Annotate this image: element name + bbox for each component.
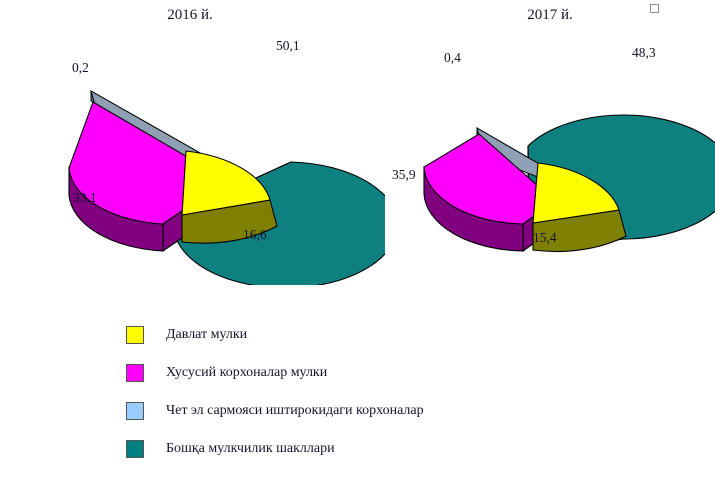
legend-item-davlat[interactable]: Давлат мулки	[126, 316, 596, 354]
legend-swatch-davlat-icon	[126, 326, 144, 344]
legend-swatch-chet-el-icon	[126, 402, 144, 420]
legend-label-davlat: Давлат мулки	[166, 327, 247, 343]
legend-item-boshqa[interactable]: Бошқа мулкчилик шакллари	[126, 430, 596, 468]
legend-swatch-xususiy-icon	[126, 364, 144, 382]
pie-title-2017: 2017 й.	[470, 7, 630, 24]
data-label-2016-xususiy: 33,1	[73, 190, 97, 206]
legend-swatch-boshqa-icon	[126, 440, 144, 458]
legend-label-boshqa: Бошқа мулкчилик шакллари	[166, 441, 335, 457]
legend-label-chet-el: Чет эл сармояси иштирокидаги корхоналар	[166, 403, 424, 419]
pie-chart-2016	[55, 55, 385, 285]
data-label-2017-boshqa: 48,3	[632, 45, 656, 61]
pie-title-2016: 2016 й.	[110, 7, 270, 24]
data-label-2017-xususiy: 35,9	[392, 167, 416, 183]
legend-item-chet-el[interactable]: Чет эл сармояси иштирокидаги корхоналар	[126, 392, 596, 430]
legend-label-xususiy: Хусусий корхоналар мулки	[166, 365, 327, 381]
data-label-2017-davlat: 15,4	[533, 230, 557, 246]
data-label-2017-chet-el: 0,4	[444, 50, 461, 66]
data-label-2016-chet-el: 0,2	[72, 60, 89, 76]
data-label-2016-davlat: 16,6	[243, 227, 267, 243]
placeholder-square-icon	[650, 4, 659, 13]
pie-chart-2017	[415, 58, 715, 293]
data-label-2016-boshqa: 50,1	[276, 38, 300, 54]
charts-container: 2016 й. 2017 й.	[0, 0, 715, 300]
chart-legend: Давлат мулки Хусусий корхоналар мулки Че…	[126, 316, 596, 468]
legend-item-xususiy[interactable]: Хусусий корхоналар мулки	[126, 354, 596, 392]
